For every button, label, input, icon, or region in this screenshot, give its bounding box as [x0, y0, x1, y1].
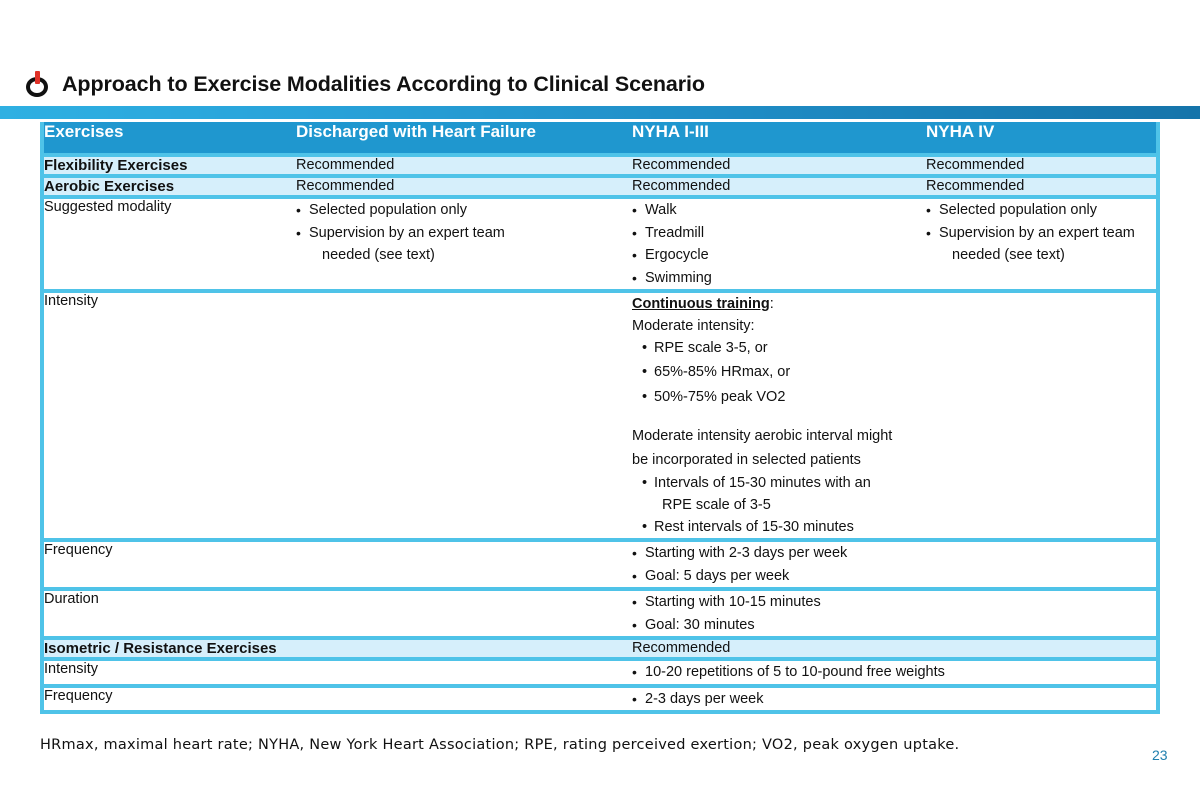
column-header-discharged-hf: Discharged with Heart Failure: [296, 122, 632, 153]
moderate-intensity-subheading: Moderate intensity:: [632, 315, 1156, 337]
row-label-suggested-modality: Suggested modality: [44, 199, 296, 289]
table-row: Duration Starting with 10-15 minutes Goa…: [44, 591, 1156, 636]
table-header-row: Exercises Discharged with Heart Failure …: [44, 122, 1156, 153]
list-item: Supervision by an expert team: [926, 222, 1156, 245]
row-label-isometric-resistance-exercises: Isometric / Resistance Exercises: [44, 640, 296, 657]
list-item: Rest intervals of 15-30 minutes: [632, 516, 1156, 538]
table-row: Isometric / Resistance Exercises Recomme…: [44, 640, 1156, 657]
exercise-modalities-table: Exercises Discharged with Heart Failure …: [40, 122, 1160, 714]
row-label-frequency-resistance: Frequency: [44, 688, 296, 711]
cell-aerobic-nyha4: Recommended: [926, 178, 1156, 195]
list-item: 10-20 repetitions of 5 to 10-pound free …: [632, 661, 1156, 684]
list-item-continued: RPE scale of 3-5: [632, 494, 1156, 516]
interval-paragraph-line-2: be incorporated in selected patients: [632, 448, 1156, 472]
cell-intensity-nyha1-3: Continuous training: Moderate intensity:…: [632, 293, 1156, 538]
cell-duration-discharged: [296, 591, 632, 636]
row-label-frequency-aerobic: Frequency: [44, 542, 296, 587]
cell-modality-nyha4: Selected population only Supervision by …: [926, 199, 1156, 289]
list-item: 2-3 days per week: [632, 688, 1156, 711]
list-item: 65%-85% HRmax, or: [632, 360, 1156, 385]
list-item: Selected population only: [926, 199, 1156, 222]
row-label-intensity-resistance: Intensity: [44, 661, 296, 684]
cell-modality-nyha1-3: Walk Treadmill Ergocycle Swimming: [632, 199, 926, 289]
cell-aerobic-discharged: Recommended: [296, 178, 632, 195]
column-header-nyha-i-iii: NYHA I-III: [632, 122, 926, 153]
cell-flexibility-nyha1-3: Recommended: [632, 157, 926, 174]
column-header-exercises: Exercises: [44, 122, 296, 153]
table-row: Frequency 2-3 days per week: [44, 688, 1156, 711]
continuous-training-heading: Continuous training: [632, 296, 770, 312]
cell-duration-nyha1-3: Starting with 10-15 minutes Goal: 30 min…: [632, 591, 1156, 636]
row-label-duration: Duration: [44, 591, 296, 636]
list-item: Selected population only: [296, 199, 632, 222]
list-item-continued: needed (see text): [926, 244, 1156, 267]
row-label-aerobic-exercises: Aerobic Exercises: [44, 178, 296, 195]
list-item: Starting with 2-3 days per week: [632, 542, 1156, 565]
list-item: 50%-75% peak VO2: [632, 385, 1156, 410]
list-item: RPE scale 3-5, or: [632, 337, 1156, 360]
table-row: Intensity 10-20 repetitions of 5 to 10-p…: [44, 661, 1156, 684]
cell-intensity-res-nyha1-3: 10-20 repetitions of 5 to 10-pound free …: [632, 661, 1156, 684]
cell-flexibility-discharged: Recommended: [296, 157, 632, 174]
cell-intensity-res-discharged: [296, 661, 632, 684]
cell-frequency-nyha1-3: Starting with 2-3 days per week Goal: 5 …: [632, 542, 1156, 587]
slide-title-bar: Approach to Exercise Modalities Accordin…: [0, 62, 1200, 106]
title-accent-bar: [0, 106, 1200, 119]
list-item-continued: needed (see text): [296, 244, 632, 267]
page-number: 23: [1152, 747, 1168, 763]
list-item: Starting with 10-15 minutes: [632, 591, 1156, 614]
list-item: Walk: [632, 199, 926, 222]
list-item: Goal: 5 days per week: [632, 565, 1156, 588]
list-item: Treadmill: [632, 222, 926, 245]
row-label-intensity-aerobic: Intensity: [44, 293, 296, 538]
cell-aerobic-nyha1-3: Recommended: [632, 178, 926, 195]
list-item: Swimming: [632, 267, 926, 290]
column-header-nyha-iv: NYHA IV: [926, 122, 1156, 153]
page-title: Approach to Exercise Modalities Accordin…: [62, 72, 705, 97]
cell-modality-discharged: Selected population only Supervision by …: [296, 199, 632, 289]
power-heart-icon: [24, 71, 50, 97]
cell-frequency-discharged: [296, 542, 632, 587]
list-item: Goal: 30 minutes: [632, 614, 1156, 637]
interval-paragraph-line-1: Moderate intensity aerobic interval migh…: [632, 424, 1156, 448]
list-item: Ergocycle: [632, 244, 926, 267]
cell-isometric-nyha1-3: Recommended: [632, 640, 1156, 657]
table-row: Aerobic Exercises Recommended Recommende…: [44, 178, 1156, 195]
list-item: Supervision by an expert team: [296, 222, 632, 245]
cell-intensity-discharged: [296, 293, 632, 538]
table-row: Intensity Continuous training: Moderate …: [44, 293, 1156, 538]
cell-isometric-discharged: [296, 640, 632, 657]
list-item: Intervals of 15-30 minutes with an: [632, 472, 1156, 494]
cell-frequency-res-nyha1-3: 2-3 days per week: [632, 688, 1156, 711]
continuous-training-heading-line: Continuous training:: [632, 293, 1156, 315]
table-row: Flexibility Exercises Recommended Recomm…: [44, 157, 1156, 174]
table-row: Suggested modality Selected population o…: [44, 199, 1156, 289]
cell-frequency-res-discharged: [296, 688, 632, 711]
cell-flexibility-nyha4: Recommended: [926, 157, 1156, 174]
row-label-flexibility-exercises: Flexibility Exercises: [44, 157, 296, 174]
table-row: Frequency Starting with 2-3 days per wee…: [44, 542, 1156, 587]
heading-colon: :: [770, 296, 774, 312]
table-rule: [44, 710, 1156, 714]
footnote-abbreviations: HRmax, maximal heart rate; NYHA, New Yor…: [40, 737, 1100, 753]
spacer: [632, 410, 1156, 424]
